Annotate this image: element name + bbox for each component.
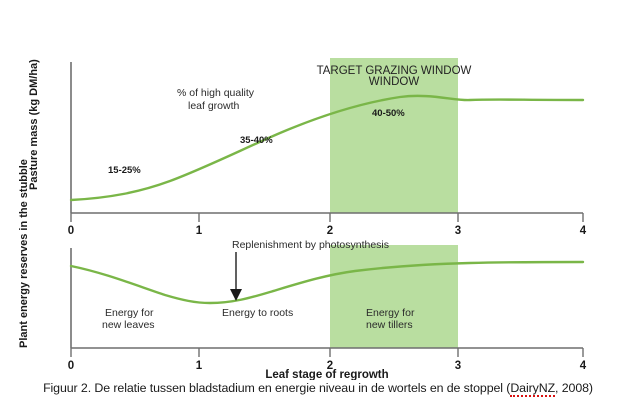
figure-container: 0 1 2 3 4 Pasture mass (kg DM/ha) % of h… (0, 0, 636, 406)
bottom-chart-xtick-label-0: 0 (68, 360, 74, 372)
bottom-chart-annotation-new-tillers-line2: new tillers (366, 319, 413, 331)
target-grazing-window-label-line2: WINDOW (330, 76, 458, 88)
top-chart-xtick-label-1: 1 (196, 225, 203, 237)
top-chart-annotation-15-25: 15-25% (108, 165, 141, 176)
bottom-chart-xtick-label-4: 4 (580, 360, 587, 372)
charts-svg: 0 1 2 3 4 Pasture mass (kg DM/ha) % of h… (0, 0, 636, 380)
top-chart-annotation-40-50: 40-50% (372, 108, 405, 119)
figure-caption: Figuur 2. De relatie tussen bladstadium … (0, 381, 636, 395)
pasture-mass-curve (71, 96, 583, 200)
chart-plant-energy-reserves: 0 1 2 3 4 Plant energy reserves in the s… (18, 159, 587, 380)
top-chart-xtick-label-0: 0 (68, 225, 74, 237)
figure-caption-suffix: , 2008) (555, 381, 593, 395)
bottom-chart-annotation-new-tillers-line1: Energy for (366, 307, 415, 319)
energy-window-band (330, 245, 458, 348)
top-chart-annotation-35-40: 35-40% (240, 135, 273, 146)
chart-pasture-mass: 0 1 2 3 4 Pasture mass (kg DM/ha) % of h… (28, 58, 587, 237)
bottom-chart-annotation-energy-to-roots: Energy to roots (222, 307, 293, 319)
bottom-chart-annotation-new-leaves-line1: Energy for (105, 307, 154, 319)
top-chart-annotation-0: % of high quality (177, 87, 255, 99)
bottom-chart-y-axis-label-line1: Plant energy reserves in the stubble (18, 159, 30, 348)
bottom-chart-xtick-label-1: 1 (196, 360, 203, 372)
charts-svg-wrapper: 0 1 2 3 4 Pasture mass (kg DM/ha) % of h… (0, 0, 636, 385)
top-chart-xtick-label-4: 4 (580, 225, 587, 237)
bottom-chart-annotation-replenishment: Replenishment by photosynthesis (232, 239, 389, 251)
replenishment-arrow (230, 252, 242, 301)
top-chart-xtick-label-3: 3 (455, 225, 461, 237)
bottom-chart-annotation-new-leaves-line2: new leaves (102, 319, 155, 331)
energy-reserves-curve (71, 262, 583, 303)
figure-caption-prefix: Figuur 2. De relatie tussen bladstadium … (43, 381, 510, 395)
figure-caption-source: DairyNZ (510, 381, 555, 397)
bottom-chart-xtick-label-3: 3 (455, 360, 461, 372)
top-chart-xtick-label-2: 2 (327, 225, 333, 237)
top-chart-annotation-1: leaf growth (188, 100, 240, 112)
shared-x-axis-label: Leaf stage of regrowth (265, 369, 388, 380)
